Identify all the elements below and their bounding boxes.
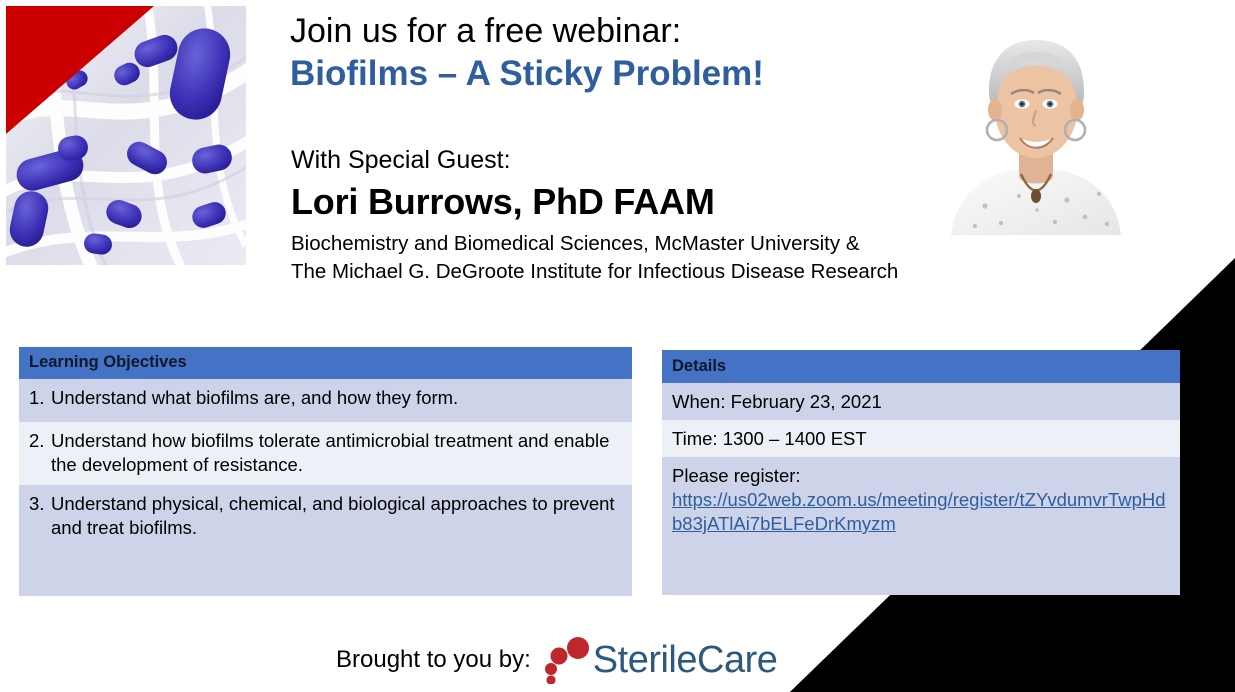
details-panel: Details When: February 23, 2021 Time: 13…: [662, 350, 1180, 595]
objective-text: Understand what biofilms are, and how th…: [51, 386, 622, 410]
webinar-title: Biofilms – A Sticky Problem!: [290, 53, 920, 95]
sterilecare-logo: SterileCare: [543, 636, 778, 684]
register-label: Please register:: [672, 464, 1170, 488]
objective-text: Understand how biofilms tolerate antimic…: [51, 429, 622, 477]
details-when-row: When: February 23, 2021: [662, 383, 1180, 420]
details-panel-filler: [662, 557, 1180, 595]
objective-number: 2.: [29, 429, 51, 453]
registration-link[interactable]: https://us02web.zoom.us/meeting/register…: [672, 488, 1170, 536]
objectives-panel-filler: [19, 548, 632, 596]
biofilm-micrograph-image: [6, 6, 246, 265]
brought-to-you-by-label: Brought to you by:: [336, 646, 531, 674]
sterilecare-dots-icon: [543, 636, 591, 684]
affiliation-line-1: Biochemistry and Biomedical Sciences, Mc…: [291, 230, 1031, 257]
speaker-block: With Special Guest: Lori Burrows, PhD FA…: [291, 145, 1031, 285]
objective-item: 1. Understand what biofilms are, and how…: [19, 379, 632, 422]
footer-block: Brought to you by: SterileCare: [336, 636, 777, 684]
objective-number: 3.: [29, 492, 51, 516]
learning-objectives-header: Learning Objectives: [19, 347, 632, 379]
headline-block: Join us for a free webinar: Biofilms – A…: [290, 12, 920, 95]
objective-number: 1.: [29, 386, 51, 410]
learning-objectives-panel: Learning Objectives 1. Understand what b…: [19, 347, 632, 596]
objective-item: 3. Understand physical, chemical, and bi…: [19, 485, 632, 548]
speaker-portrait-photo: [927, 10, 1145, 235]
details-header: Details: [662, 350, 1180, 383]
objective-item: 2. Understand how biofilms tolerate anti…: [19, 422, 632, 485]
speaker-name: Lori Burrows, PhD FAAM: [291, 181, 1031, 223]
sterilecare-wordmark: SterileCare: [593, 641, 778, 679]
speaker-affiliation: Biochemistry and Biomedical Sciences, Mc…: [291, 230, 1031, 284]
affiliation-line-2: The Michael G. DeGroote Institute for In…: [291, 258, 1031, 285]
details-time-row: Time: 1300 – 1400 EST: [662, 420, 1180, 457]
webinar-intro-text: Join us for a free webinar:: [290, 12, 920, 51]
special-guest-label: With Special Guest:: [291, 145, 1031, 175]
objective-text: Understand physical, chemical, and biolo…: [51, 492, 622, 540]
details-register-row: Please register: https://us02web.zoom.us…: [662, 457, 1180, 557]
